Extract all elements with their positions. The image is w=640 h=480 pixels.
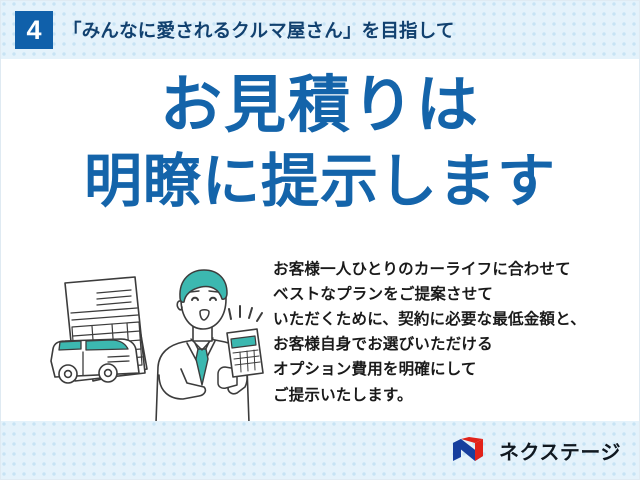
body-copy-line: お客様一人ひとりのカーライフに合わせて xyxy=(273,257,633,282)
body-copy-line: ご提示いたします。 xyxy=(273,383,633,408)
body-copy-line: ベストなプランをご提案させて xyxy=(273,282,633,307)
nextage-n-logo-icon xyxy=(451,437,491,463)
calculator xyxy=(227,329,263,377)
body-copy: お客様一人ひとりのカーライフに合わせて ベストなプランをご提案させて いただくた… xyxy=(273,257,633,408)
body-copy-line: オプション費用を明確にして xyxy=(273,357,633,382)
headline-line-1: お見積りは xyxy=(1,75,639,137)
promo-banner: 4 「みんなに愛されるクルマ屋さん」を目指して お見積りは 明瞭に提示します xyxy=(0,0,640,480)
step-number-badge: 4 xyxy=(15,11,53,49)
header-title: 「みんなに愛されるクルマ屋さん」を目指して xyxy=(63,1,455,59)
headline: お見積りは 明瞭に提示します xyxy=(1,75,639,211)
brand-lockup: ネクステージ xyxy=(451,421,621,479)
body-copy-line: お客様自身でお選びいただける xyxy=(273,332,633,357)
illustration xyxy=(35,257,273,425)
brand-name: ネクステージ xyxy=(499,436,621,465)
body-copy-line: いただくために、契約に必要な最低金額と、 xyxy=(273,307,633,332)
headline-line-2: 明瞭に提示します xyxy=(1,153,639,211)
